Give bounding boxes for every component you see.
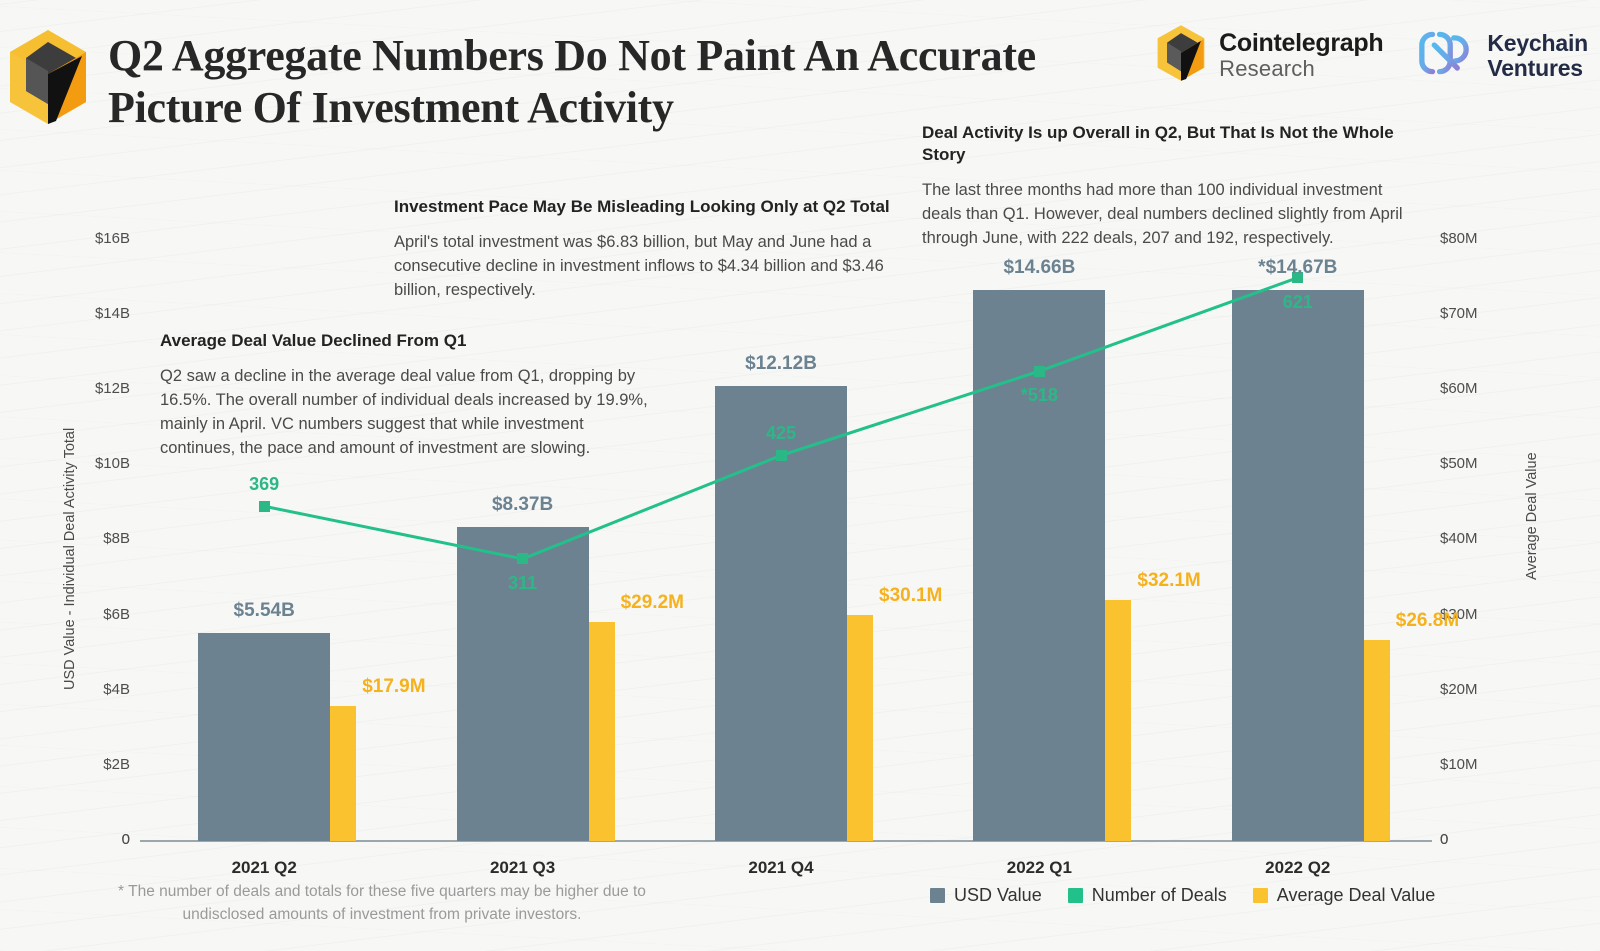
y-tick-left: $14B xyxy=(60,305,130,322)
legend-label: USD Value xyxy=(954,885,1042,906)
y-tick-right: 0 xyxy=(1440,831,1510,848)
label-number-of-deals: 369 xyxy=(204,474,324,495)
legend-swatch xyxy=(930,888,945,903)
y-tick-left: $4B xyxy=(60,681,130,698)
label-number-of-deals: 425 xyxy=(721,423,841,444)
chart-area: USD Value - Individual Deal Activity Tot… xyxy=(0,0,1600,951)
y-tick-right: $40M xyxy=(1440,530,1510,547)
legend-item[interactable]: Number of Deals xyxy=(1068,885,1227,906)
label-usd-value: $5.54B xyxy=(174,600,354,622)
label-average-deal-value: $29.2M xyxy=(621,592,741,614)
label-number-of-deals: 621 xyxy=(1238,292,1358,313)
label-usd-value: $8.37B xyxy=(433,494,613,516)
label-number-of-deals: 311 xyxy=(463,573,583,594)
x-category-label: 2022 Q2 xyxy=(1208,858,1388,878)
deals-marker xyxy=(776,450,787,461)
legend-swatch xyxy=(1253,888,1268,903)
y-tick-left: $6B xyxy=(60,606,130,623)
y-tick-left: $10B xyxy=(60,455,130,472)
deals-marker xyxy=(259,501,270,512)
y-axis-right-title: Average Deal Value xyxy=(1524,452,1540,580)
x-category-label: 2021 Q3 xyxy=(433,858,613,878)
y-tick-left: $2B xyxy=(60,756,130,773)
label-number-of-deals: *518 xyxy=(979,385,1099,406)
label-average-deal-value: $17.9M xyxy=(362,676,482,698)
y-tick-left: $12B xyxy=(60,380,130,397)
bar-average-deal-value xyxy=(1105,600,1131,841)
y-tick-right: $80M xyxy=(1440,230,1510,247)
x-category-label: 2021 Q2 xyxy=(174,858,354,878)
chart-footnote: * The number of deals and totals for the… xyxy=(92,880,672,926)
label-average-deal-value: $32.1M xyxy=(1137,570,1257,592)
y-tick-right: $20M xyxy=(1440,681,1510,698)
x-category-label: 2022 Q1 xyxy=(949,858,1129,878)
label-usd-value: *$14.67B xyxy=(1208,257,1388,279)
chart-legend: USD ValueNumber of DealsAverage Deal Val… xyxy=(930,885,1435,906)
y-tick-right: $10M xyxy=(1440,756,1510,773)
legend-item[interactable]: Average Deal Value xyxy=(1253,885,1435,906)
y-tick-right: $70M xyxy=(1440,305,1510,322)
y-tick-left: $16B xyxy=(60,230,130,247)
deals-marker xyxy=(1034,366,1045,377)
bar-average-deal-value xyxy=(847,615,873,841)
legend-swatch xyxy=(1068,888,1083,903)
bar-average-deal-value xyxy=(330,706,356,841)
label-usd-value: $14.66B xyxy=(949,257,1129,279)
bar-usd-value xyxy=(198,633,330,841)
legend-label: Average Deal Value xyxy=(1277,885,1435,906)
x-category-label: 2021 Q4 xyxy=(691,858,871,878)
bar-average-deal-value xyxy=(1364,640,1390,841)
label-average-deal-value: $26.8M xyxy=(1396,610,1516,632)
y-tick-left: 0 xyxy=(60,831,130,848)
deals-marker xyxy=(517,553,528,564)
label-average-deal-value: $30.1M xyxy=(879,585,999,607)
y-tick-right: $50M xyxy=(1440,455,1510,472)
bar-average-deal-value xyxy=(589,622,615,841)
y-tick-left: $8B xyxy=(60,530,130,547)
legend-item[interactable]: USD Value xyxy=(930,885,1042,906)
y-tick-right: $60M xyxy=(1440,380,1510,397)
legend-label: Number of Deals xyxy=(1092,885,1227,906)
label-usd-value: $12.12B xyxy=(691,353,871,375)
bar-usd-value xyxy=(1232,290,1364,841)
